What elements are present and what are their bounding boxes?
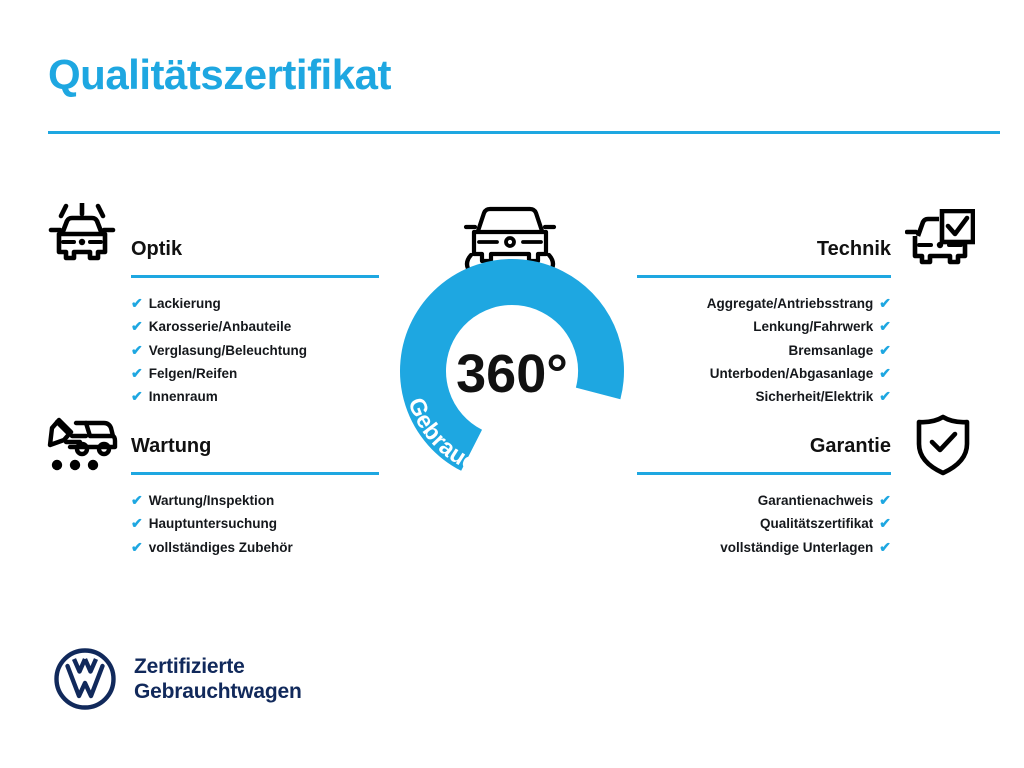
check-icon: ✔ <box>131 292 143 315</box>
footer-wordmark-line1: Zertifizierte <box>134 654 302 679</box>
section-optik-title: Optik <box>131 236 379 262</box>
list-item-label: Innenraum <box>149 385 218 408</box>
page-title: Qualitätszertifikat <box>48 52 391 98</box>
badge-360-gebrauchtwagen-check: 360° Gebrauchtwagen-Check <box>372 196 652 486</box>
list-item-label: Felgen/Reifen <box>149 362 238 385</box>
check-icon: ✔ <box>879 512 891 535</box>
section-garantie-list: Garantienachweis ✔ Qualitätszertifikat ✔… <box>637 489 891 559</box>
footer-wordmark: Zertifizierte Gebrauchtwagen <box>134 654 302 704</box>
section-wartung-list: ✔ Wartung/Inspektion ✔ Hauptuntersuchung… <box>131 489 379 559</box>
check-icon: ✔ <box>131 536 143 559</box>
check-icon: ✔ <box>131 512 143 535</box>
list-item-label: Hauptuntersuchung <box>149 512 277 535</box>
section-technik-divider <box>637 275 891 278</box>
list-item: Bremsanlage ✔ <box>637 339 891 362</box>
check-icon: ✔ <box>879 489 891 512</box>
list-item: ✔ Lackierung <box>131 292 379 315</box>
list-item: Sicherheit/Elektrik ✔ <box>637 385 891 408</box>
list-item: Qualitätszertifikat ✔ <box>637 512 891 535</box>
check-icon: ✔ <box>131 362 143 385</box>
check-icon: ✔ <box>879 339 891 362</box>
list-item: ✔ Karosserie/Anbauteile <box>131 315 379 338</box>
list-item: Unterboden/Abgasanlage ✔ <box>637 362 891 385</box>
car-front-shine-icon <box>46 203 118 270</box>
section-optik: Optik ✔ Lackierung ✔ Karosserie/Anbautei… <box>131 236 379 408</box>
check-icon: ✔ <box>131 315 143 338</box>
list-item-label: Garantienachweis <box>758 489 874 512</box>
check-icon: ✔ <box>879 292 891 315</box>
check-icon: ✔ <box>131 489 143 512</box>
section-technik: Technik Aggregate/Antriebsstrang ✔ Lenku… <box>637 236 891 408</box>
section-optik-divider <box>131 275 379 278</box>
section-technik-header: Technik <box>637 236 891 278</box>
list-item-label: Qualitätszertifikat <box>760 512 873 535</box>
list-item: Garantienachweis ✔ <box>637 489 891 512</box>
section-wartung: Wartung ✔ Wartung/Inspektion ✔ Hauptunte… <box>131 433 379 559</box>
title-divider <box>48 131 1000 134</box>
section-optik-list: ✔ Lackierung ✔ Karosserie/Anbauteile ✔ V… <box>131 292 379 408</box>
check-icon: ✔ <box>131 339 143 362</box>
section-garantie: Garantie Garantienachweis ✔ Qualitätszer… <box>637 433 891 559</box>
pencil-car-service-icon <box>46 415 118 478</box>
car-front-checkbox-icon <box>905 209 975 276</box>
list-item: Aggregate/Antriebsstrang ✔ <box>637 292 891 315</box>
section-technik-title: Technik <box>637 236 891 262</box>
list-item-label: Unterboden/Abgasanlage <box>710 362 874 385</box>
section-garantie-title: Garantie <box>637 433 891 459</box>
list-item-label: Lenkung/Fahrwerk <box>753 315 873 338</box>
section-wartung-divider <box>131 472 379 475</box>
check-icon: ✔ <box>131 385 143 408</box>
check-icon: ✔ <box>879 385 891 408</box>
section-wartung-title: Wartung <box>131 433 379 459</box>
section-wartung-header: Wartung <box>131 433 379 475</box>
section-garantie-divider <box>637 472 891 475</box>
list-item: ✔ Hauptuntersuchung <box>131 512 379 535</box>
section-garantie-header: Garantie <box>637 433 891 475</box>
list-item-label: Sicherheit/Elektrik <box>755 385 873 408</box>
list-item-label: Wartung/Inspektion <box>149 489 275 512</box>
list-item-label: Lackierung <box>149 292 221 315</box>
badge-center-text: 360° <box>456 344 568 404</box>
list-item: ✔ Wartung/Inspektion <box>131 489 379 512</box>
check-icon: ✔ <box>879 315 891 338</box>
footer-wordmark-line2: Gebrauchtwagen <box>134 679 302 704</box>
list-item-label: Bremsanlage <box>788 339 873 362</box>
check-icon: ✔ <box>879 536 891 559</box>
list-item: Lenkung/Fahrwerk ✔ <box>637 315 891 338</box>
shield-check-icon <box>915 414 971 481</box>
list-item: ✔ Verglasung/Beleuchtung <box>131 339 379 362</box>
section-technik-list: Aggregate/Antriebsstrang ✔ Lenkung/Fahrw… <box>637 292 891 408</box>
footer-logo-block: Zertifizierte Gebrauchtwagen <box>54 648 302 710</box>
list-item-label: vollständiges Zubehör <box>149 536 293 559</box>
list-item: ✔ Felgen/Reifen <box>131 362 379 385</box>
list-item: vollständige Unterlagen ✔ <box>637 536 891 559</box>
list-item: ✔ vollständiges Zubehör <box>131 536 379 559</box>
vw-logo <box>54 648 116 710</box>
list-item-label: Karosserie/Anbauteile <box>149 315 292 338</box>
list-item-label: vollständige Unterlagen <box>720 536 873 559</box>
section-optik-header: Optik <box>131 236 379 278</box>
list-item: ✔ Innenraum <box>131 385 379 408</box>
list-item-label: Aggregate/Antriebsstrang <box>707 292 874 315</box>
check-icon: ✔ <box>879 362 891 385</box>
list-item-label: Verglasung/Beleuchtung <box>149 339 307 362</box>
